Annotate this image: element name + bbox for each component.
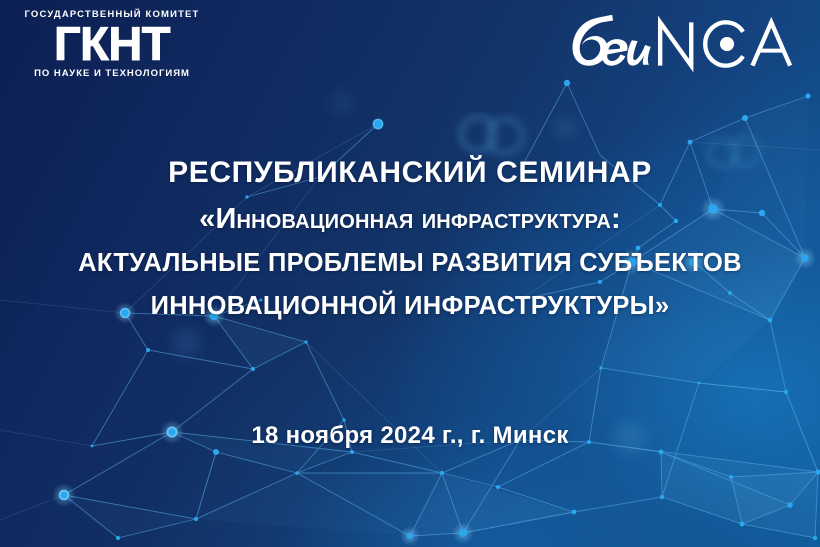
network-node xyxy=(304,340,307,343)
date-and-place: 18 ноября 2024 г., г. Минск xyxy=(0,422,820,450)
network-node xyxy=(295,471,299,475)
belisa-logo-dot-icon xyxy=(720,37,734,51)
network-node xyxy=(729,475,733,479)
network-node xyxy=(784,390,788,394)
network-node xyxy=(572,510,577,515)
network-node xyxy=(660,495,664,499)
network-node xyxy=(496,485,500,489)
belisa-logo xyxy=(566,14,792,74)
gknt-logo: ГОСУДАРСТВЕННЫЙ КОМИТЕТ ГКНТ ПО НАУКЕ И … xyxy=(24,10,200,80)
network-node xyxy=(459,529,467,537)
network-node xyxy=(564,80,570,86)
network-node xyxy=(659,450,664,455)
title-line-4: ИННОВАЦИОННОЙ ИНФРАСТРУКТУРЫ» xyxy=(0,294,820,320)
network-node xyxy=(440,471,444,475)
network-node xyxy=(805,93,810,98)
title-line-3: АКТУАЛЬНЫЕ ПРОБЛЕМЫ РАЗВИТИЯ СУБЪЕКТОВ xyxy=(0,251,820,277)
gknt-logo-acronym: ГКНТ xyxy=(24,21,200,67)
network-node xyxy=(740,522,745,527)
presentation-slide: ГОСУДАРСТВЕННЫЙ КОМИТЕТ ГКНТ ПО НАУКЕ И … xyxy=(0,0,820,547)
network-node xyxy=(813,536,817,540)
gknt-logo-bottom-text: ПО НАУКЕ И ТЕХНОЛОГИЯМ xyxy=(24,69,200,79)
title-line-1: РЕСПУБЛИКАНСКИЙ СЕМИНАР xyxy=(0,158,820,188)
network-node xyxy=(787,502,793,508)
title-line-2: «Инновационная инфраструктура: xyxy=(0,205,820,234)
network-node xyxy=(742,115,748,121)
network-node xyxy=(698,382,701,385)
belisa-logo-script-text xyxy=(573,15,651,66)
network-node xyxy=(251,367,255,371)
network-node xyxy=(116,536,120,540)
network-node xyxy=(688,140,693,145)
network-node xyxy=(407,533,413,539)
network-node xyxy=(194,517,198,521)
network-node xyxy=(146,348,150,352)
network-node xyxy=(599,366,602,369)
network-node xyxy=(350,450,354,454)
seminar-title: РЕСПУБЛИКАНСКИЙ СЕМИНАР «Инновационная и… xyxy=(0,158,820,319)
